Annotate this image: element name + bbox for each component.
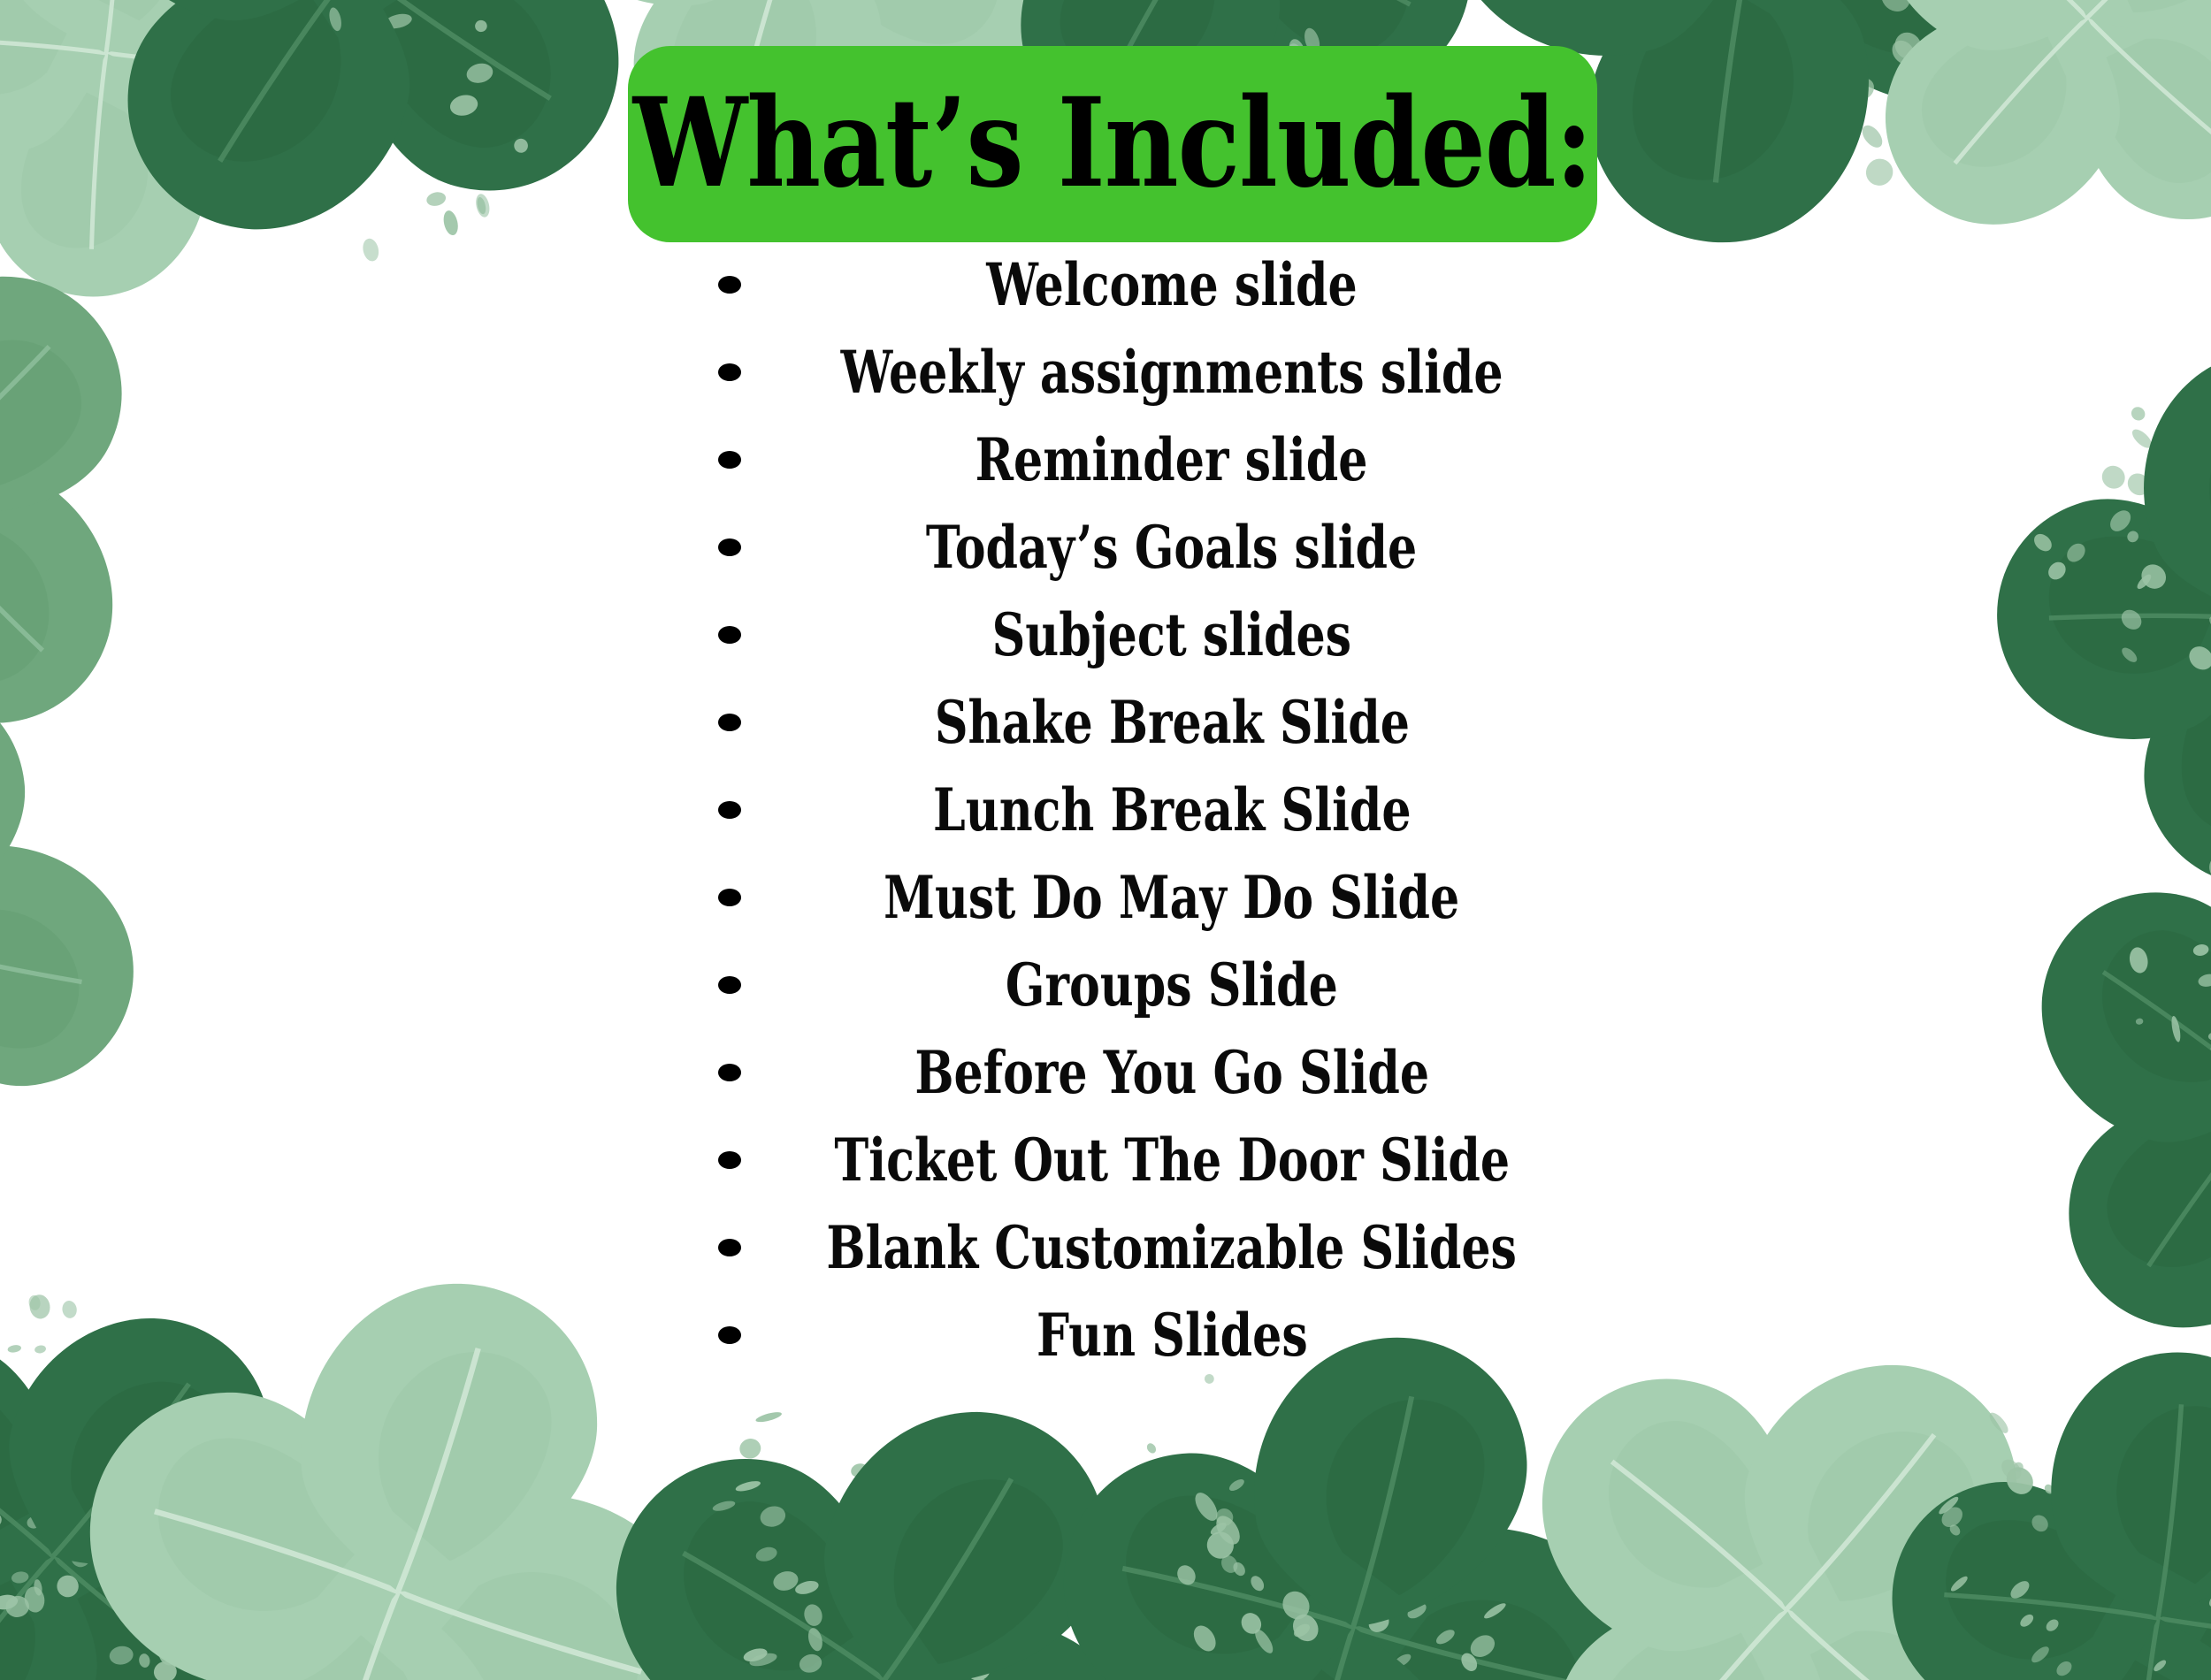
clover-left-mid-mid-icon (0, 94, 295, 897)
list-item: Lunch Break Slide (699, 766, 1645, 853)
list-item-label: Today’s Goals slide (926, 517, 1417, 576)
bullet-icon (718, 976, 741, 994)
list-item: Groups Slide (699, 941, 1645, 1028)
list-item-label: Welcome slide (986, 255, 1357, 313)
bullet-icon (718, 363, 741, 381)
list-item: Blank Customizable Slides (699, 1203, 1645, 1291)
clover-left-low-mid-icon (0, 592, 221, 1282)
bullet-icon (718, 889, 741, 906)
clover-bottom-left-dark-icon (0, 1133, 465, 1680)
list-item-label: Reminder slide (975, 430, 1368, 488)
clover-bottom-left-light-icon (11, 1204, 784, 1680)
list-item-label: Shake Break Slide (934, 692, 1409, 751)
bullet-icon (718, 276, 741, 294)
clover-bottom-right-dark-icon (1747, 1206, 2211, 1680)
list-item: Today’s Goals slide (699, 503, 1645, 591)
list-item: Ticket Out The Door Slide (699, 1116, 1645, 1203)
list-item: Welcome slide (699, 241, 1645, 328)
list-item: Subject slides (699, 591, 1645, 678)
bullet-icon (718, 801, 741, 819)
list-item-label: Must Do May Do Slide (884, 867, 1459, 926)
list-item: Fun Slides (699, 1291, 1645, 1378)
list-item: Shake Break Slide (699, 678, 1645, 766)
bullet-icon (718, 626, 741, 644)
list-item: Must Do May Do Slide (699, 853, 1645, 941)
clover-top-left-light-icon (0, 0, 457, 404)
bullet-icon (718, 538, 741, 556)
list-item: Weekly assignments slide (699, 328, 1645, 416)
clover-right-low-dark-icon (1888, 701, 2211, 1501)
slide-canvas: What’s Included: Welcome slideWeekly ass… (0, 0, 2211, 1680)
bullet-icon (718, 1326, 741, 1344)
list-item-label: Blank Customizable Slides (827, 1218, 1518, 1276)
page-title: What’s Included: (662, 34, 1563, 255)
clover-top-right-light-icon (1730, 0, 2211, 375)
bullet-icon (718, 1151, 741, 1169)
included-items-list: Welcome slideWeekly assignments slideRem… (699, 241, 1645, 1378)
bullet-icon (718, 714, 741, 731)
bullet-icon (718, 1239, 741, 1256)
list-item: Reminder slide (699, 416, 1645, 503)
list-item-label: Ticket Out The Door Slide (834, 1130, 1510, 1188)
list-item-label: Subject slides (992, 605, 1351, 663)
bullet-icon (718, 451, 741, 469)
list-item-label: Weekly assignments slide (840, 342, 1503, 401)
list-item-label: Groups Slide (1006, 955, 1338, 1013)
clover-right-mid-dark-icon (1862, 210, 2211, 1057)
list-item-label: Before You Go Slide (914, 1042, 1429, 1101)
list-item-label: Fun Slides (1037, 1305, 1308, 1363)
list-item: Before You Go Slide (699, 1028, 1645, 1116)
bullet-icon (718, 1064, 741, 1081)
title-banner: What’s Included: (628, 46, 1597, 242)
list-item-label: Lunch Break Slide (933, 780, 1412, 838)
